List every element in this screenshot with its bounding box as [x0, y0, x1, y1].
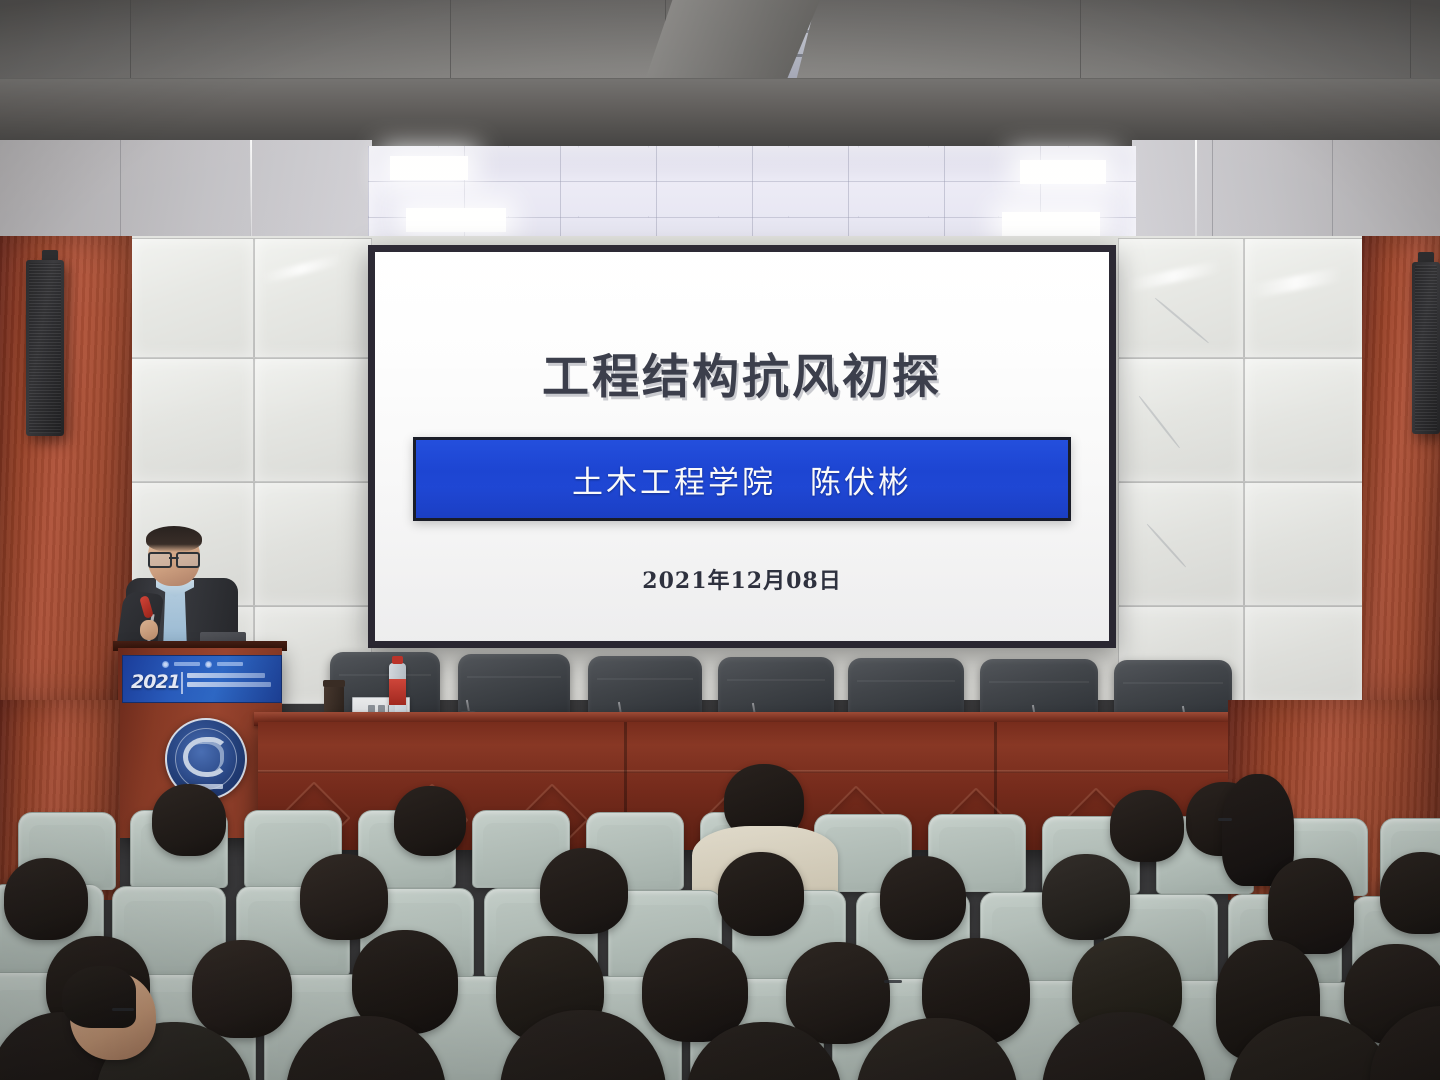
wall-tile [254, 238, 372, 358]
audience-head [1268, 858, 1354, 954]
audience-glasses-icon [112, 1008, 134, 1011]
wall-tile [1118, 358, 1244, 482]
audience-head [880, 856, 966, 940]
audience-head [300, 854, 388, 940]
wall-tile [254, 482, 372, 606]
presenter-hand [140, 620, 158, 640]
presenter-hair [146, 526, 202, 552]
projection-screen-frame: 工程结构抗风初探 土木工程学院 陈伏彬 2021年12月08日 [368, 245, 1116, 648]
ceiling-beam [0, 78, 1440, 149]
wall-wood-column-left [0, 236, 132, 702]
audience-head [1110, 790, 1184, 862]
podium-banner: 2021 [122, 655, 282, 703]
audience-head [1042, 854, 1130, 940]
podium-banner-logos [123, 659, 281, 669]
wall-tile [254, 358, 372, 482]
wall-tile [130, 238, 254, 358]
slide-subtitle-text: 土木工程学院 陈伏彬 [572, 457, 912, 502]
wall-speaker-left [26, 260, 64, 436]
water-bottle [389, 663, 406, 719]
presenter [118, 528, 246, 658]
wall-tile [130, 358, 254, 482]
wall-tile [1244, 238, 1366, 358]
audience-head [540, 848, 628, 934]
audience-hair [62, 966, 136, 1028]
podium-banner-text-lines [187, 673, 276, 691]
audience-area [0, 760, 1440, 1080]
wall-tile [1244, 358, 1366, 482]
wall-speaker-right [1412, 262, 1440, 434]
ceiling-light-panel [1020, 160, 1106, 184]
audience-glasses-icon [884, 980, 902, 983]
audience-head [718, 852, 804, 936]
wall-tile [1118, 482, 1244, 606]
audience-head [4, 858, 88, 940]
wall-tile [1244, 482, 1366, 606]
presenter-glasses-icon [148, 552, 200, 565]
slide-date: 2021年12月08日 [375, 563, 1109, 595]
slide-subtitle-bar: 土木工程学院 陈伏彬 [413, 437, 1071, 521]
wall-tile [1118, 238, 1244, 358]
projection-screen: 工程结构抗风初探 土木工程学院 陈伏彬 2021年12月08日 [375, 252, 1109, 641]
audience-head [394, 786, 466, 856]
audience-head [152, 784, 226, 856]
ceiling-light-panel [390, 156, 468, 180]
audience-head [786, 942, 890, 1044]
wall-tile [1244, 606, 1366, 704]
audience-glasses-icon [1218, 818, 1232, 821]
ceiling-light-panel [406, 208, 506, 232]
lecture-hall-photo: 工程结构抗风初探 土木工程学院 陈伏彬 2021年12月08日 [0, 0, 1440, 1080]
audience-head [192, 940, 292, 1038]
podium-banner-year: 2021 [131, 671, 180, 693]
slide-title: 工程结构抗风初探 [375, 338, 1109, 407]
ceiling-light-panel [1002, 212, 1100, 236]
